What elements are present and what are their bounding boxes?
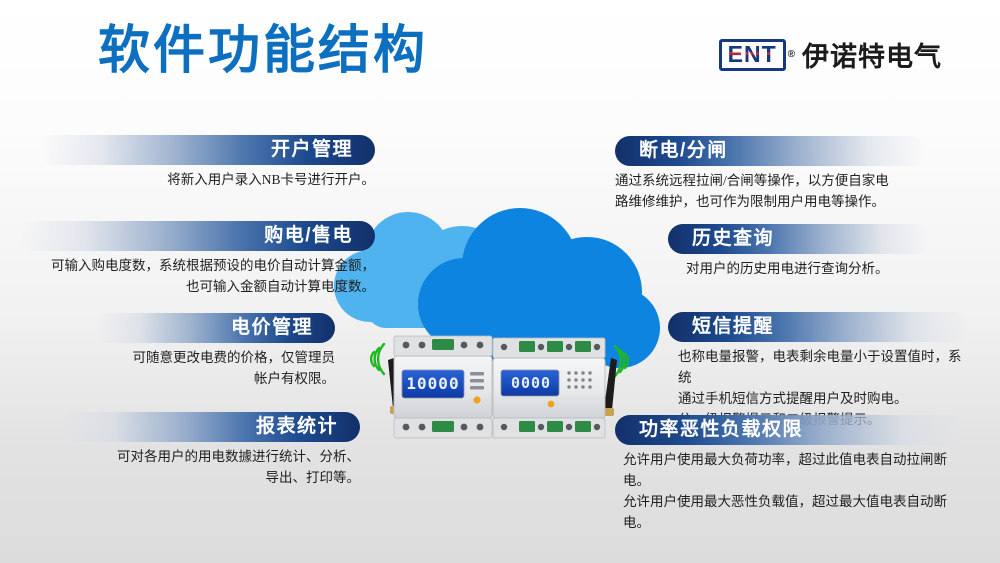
feature-history-query[interactable]: 历史查询 对用户的历史用电进行查询分析。 xyxy=(668,224,930,280)
feature-report-statistics[interactable]: 报表统计 可对各用户的用电数據进行统计、分析、 导出、打印等。 xyxy=(60,412,360,489)
feature-description-power-purchase-sale: 可输入购电度数，系统根据预设的电价自动计算金额， 也可输入金额自动计算电度数。 xyxy=(20,256,375,298)
feature-malicious-load-permission[interactable]: 功率恶性负载权限 允许用户使用最大负荷功率，超过此值电表自动拉闸断电。 允许用户… xyxy=(615,415,965,534)
svg-text:0000: 0000 xyxy=(511,374,551,392)
slide-canvas: 软件功能结构 ENT ® 伊诺特电气 xyxy=(0,0,1000,563)
feature-description-power-off-switch: 通过系统远程拉闸/合闸等操作，以方便自家电 路维修维护，也可作为限制用户用电等操… xyxy=(615,171,925,213)
feature-tariff-management[interactable]: 电价管理 可随意更改电费的价格，仅管理员 帐户有权限。 xyxy=(95,313,335,390)
feature-label-malicious-load-permission[interactable]: 功率恶性负载权限 xyxy=(615,415,965,445)
feature-description-tariff-management: 可随意更改电费的价格，仅管理员 帐户有权限。 xyxy=(95,348,335,390)
page-title: 软件功能结构 xyxy=(98,22,428,82)
feature-power-purchase-sale[interactable]: 购电/售电 可输入购电度数，系统根据预设的电价自动计算金额， 也可输入金额自动计… xyxy=(20,221,375,298)
company-logo: ENT ® 伊诺特电气 xyxy=(719,33,942,75)
feature-label-power-off-switch[interactable]: 断电/分闸 xyxy=(615,136,925,166)
feature-description-malicious-load-permission: 允许用户使用最大负荷功率，超过此值电表自动拉闸断电。 允许用户使用最大恶性负载值… xyxy=(615,450,965,534)
logo-company-name: 伊诺特电气 xyxy=(802,35,942,74)
svg-text:10000: 10000 xyxy=(406,374,459,393)
logo-ent-text: ENT xyxy=(719,39,786,71)
feature-label-tariff-management[interactable]: 电价管理 xyxy=(95,313,335,343)
feature-label-sms-reminder[interactable]: 短信提醒 xyxy=(668,312,968,342)
feature-power-off-switch[interactable]: 断电/分闸 通过系统远程拉闸/合闸等操作，以方便自家电 路维修维护，也可作为限制… xyxy=(615,136,925,213)
feature-description-account-opening: 将新入用户录入NB卡号进行开户。 xyxy=(40,170,375,191)
feature-label-account-opening[interactable]: 开户管理 xyxy=(40,135,375,165)
feature-description-history-query: 对用户的历史用电进行查询分析。 xyxy=(668,259,930,280)
logo-mark: ENT xyxy=(719,39,786,69)
feature-sms-reminder[interactable]: 短信提醒 也称电量报警，电表剩余电量小于设置值时，系统 通过手机短信方式提醒用户… xyxy=(668,312,968,431)
feature-label-power-purchase-sale[interactable]: 购电/售电 xyxy=(20,221,375,251)
smart-meter-single-phase-icon: 10000 xyxy=(360,322,500,447)
feature-description-report-statistics: 可对各用户的用电数據进行统计、分析、 导出、打印等。 xyxy=(60,447,360,489)
feature-account-opening[interactable]: 开户管理 将新入用户录入NB卡号进行开户。 xyxy=(40,135,375,191)
registered-trademark-icon: ® xyxy=(788,49,795,60)
feature-label-history-query[interactable]: 历史查询 xyxy=(668,224,930,254)
feature-label-report-statistics[interactable]: 报表统计 xyxy=(60,412,360,442)
